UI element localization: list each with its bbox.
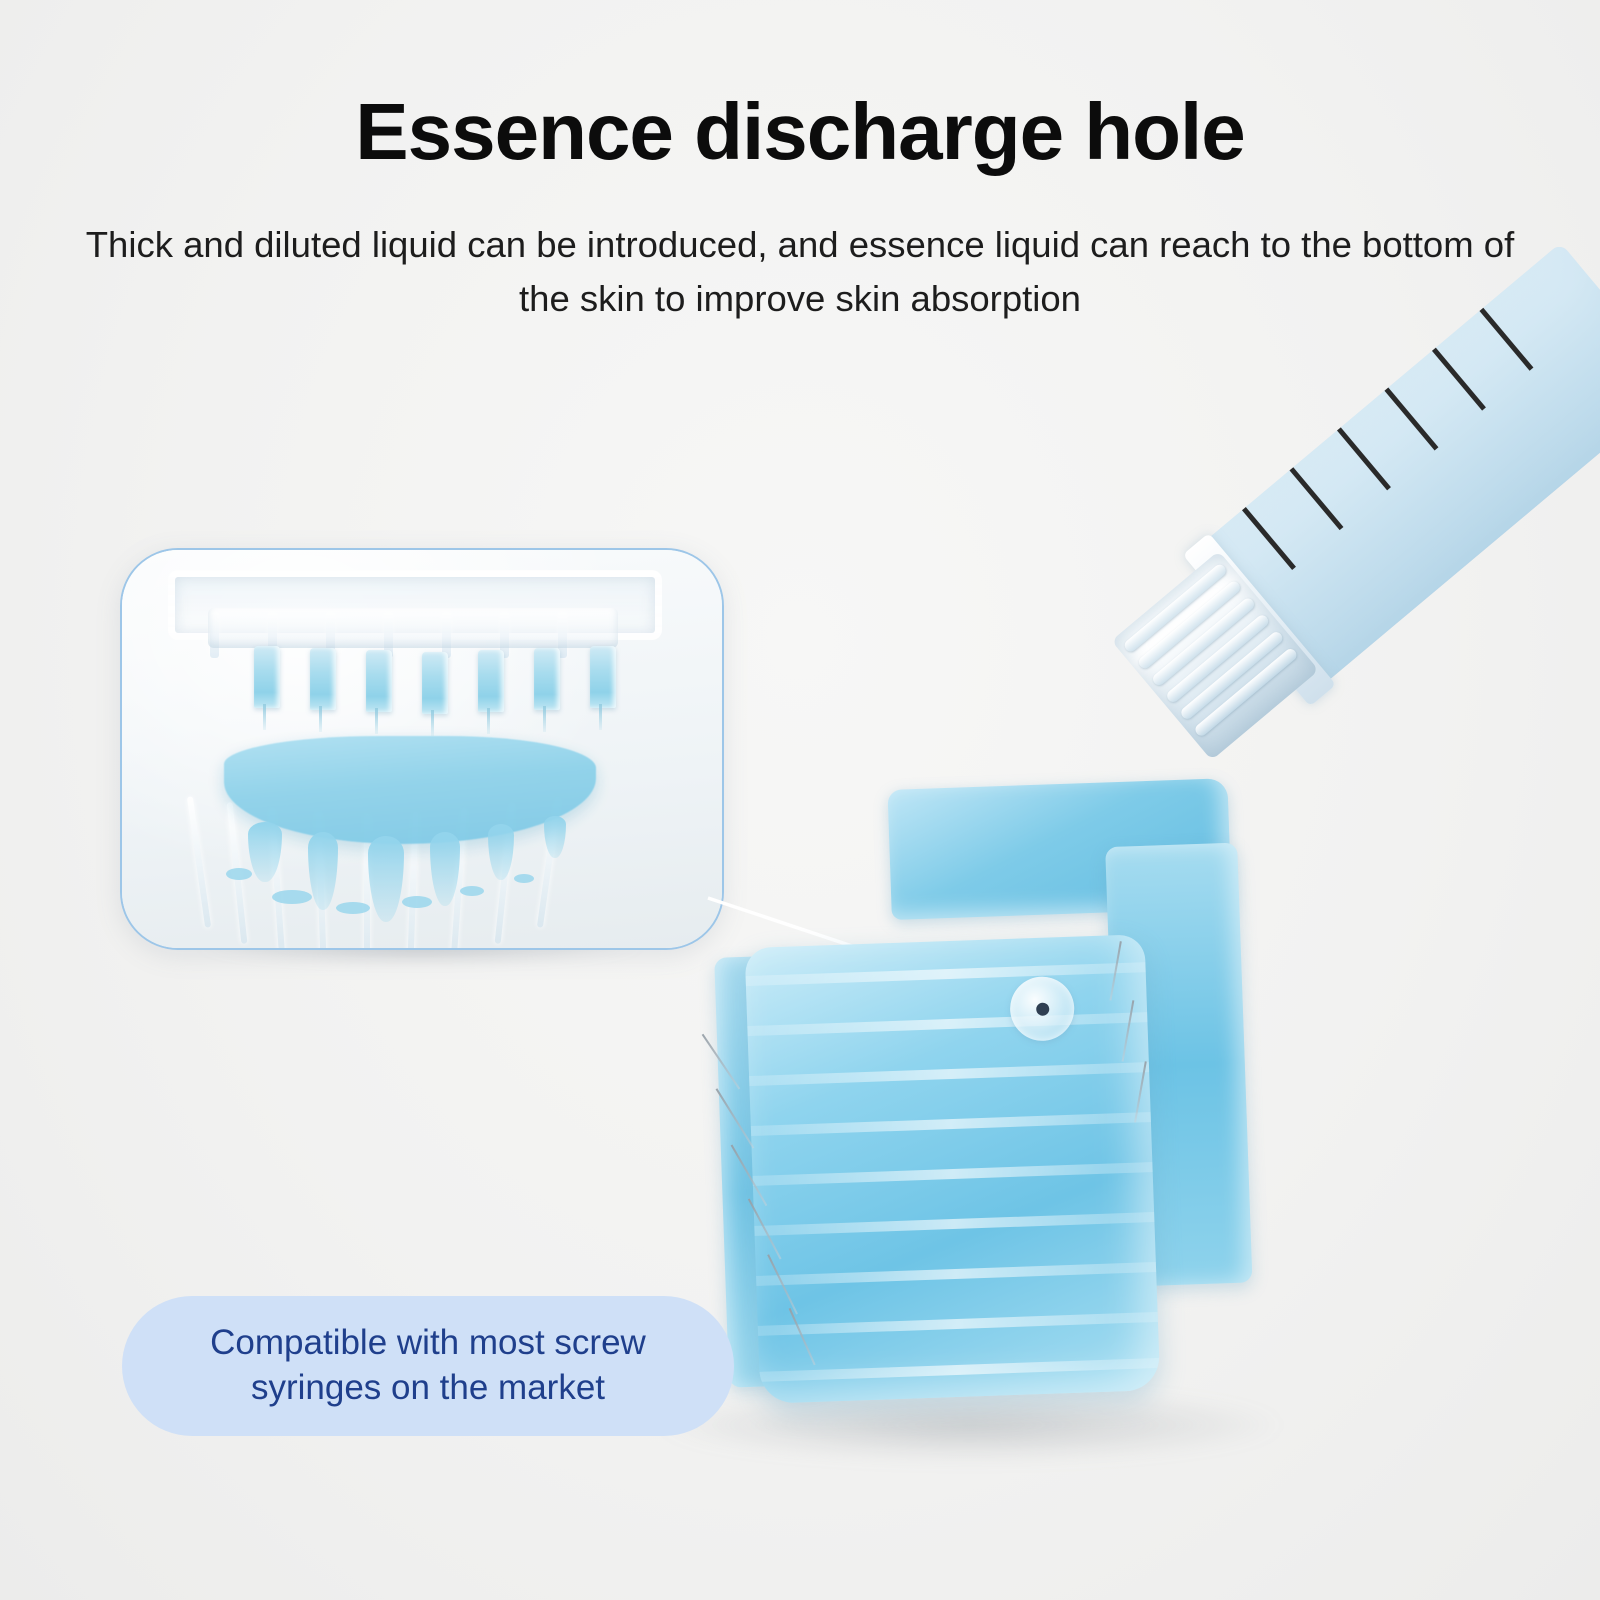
product-infographic: Essence discharge hole Thick and diluted… <box>0 0 1600 1600</box>
magnified-cutaway-panel <box>120 548 724 950</box>
microneedle-roller-head <box>668 788 1278 1428</box>
page-title: Essence discharge hole <box>0 92 1600 172</box>
roller-drum <box>745 934 1161 1404</box>
roller-housing-frame <box>138 556 704 676</box>
compatibility-badge: Compatible with most screw syringes on t… <box>122 1296 734 1436</box>
compatibility-badge-text: Compatible with most screw syringes on t… <box>122 1321 734 1411</box>
roller-head-body <box>668 778 1288 1433</box>
